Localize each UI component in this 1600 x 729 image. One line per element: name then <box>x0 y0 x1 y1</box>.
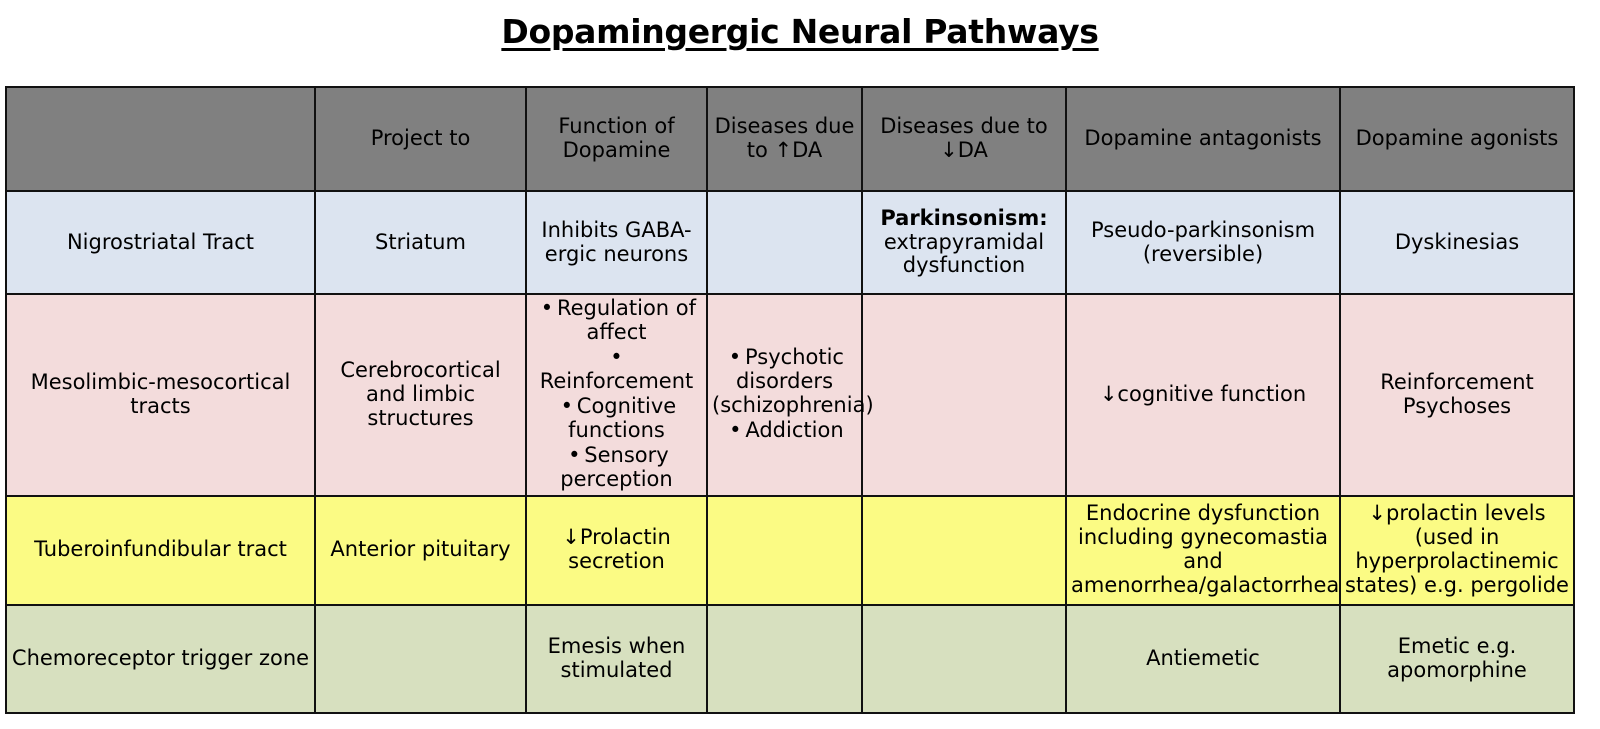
cell-nigrostriatal-function: Inhibits GABA-ergic neurons <box>526 191 707 294</box>
cell-mesolimbic-project-to: Cerebrocortical and limbic structures <box>315 294 526 496</box>
header-cell-dopamine-antagonists: Dopamine antagonists <box>1066 87 1340 191</box>
list-item-label: Addiction <box>745 418 843 442</box>
list-item: •Reinforcement <box>531 346 702 394</box>
cell-tuberoinfundibular-increased-da <box>707 496 862 605</box>
table-row: Tuberoinfundibular tract Anterior pituit… <box>6 496 1574 605</box>
header-cell-diseases-increased-da: Diseases due to ↑DA <box>707 87 862 191</box>
cell-tuberoinfundibular-antagonists: Endocrine dysfunction including gynecoma… <box>1066 496 1340 605</box>
page-title: Dopamingergic Neural Pathways <box>501 12 1098 51</box>
cell-mesolimbic-increased-da: •Psychotic disorders (schizophrenia) •Ad… <box>707 294 862 496</box>
table-row: Nigrostriatal Tract Striatum Inhibits GA… <box>6 191 1574 294</box>
parkinsonism-label: Parkinsonism: <box>880 206 1047 230</box>
cell-chemoreceptor-decreased-da <box>862 605 1066 713</box>
bullet-dot-icon: • <box>725 419 745 443</box>
cell-tuberoinfundibular-project-to: Anterior pituitary <box>315 496 526 605</box>
list-item: •Regulation of affect <box>531 297 702 345</box>
function-bullet-list: •Regulation of affect •Reinforcement •Co… <box>531 297 702 492</box>
cell-chemoreceptor-antagonists: Antiemetic <box>1066 605 1340 713</box>
header-cell-function-of-dopamine: Function of Dopamine <box>526 87 707 191</box>
table-row: Chemoreceptor trigger zone Emesis when s… <box>6 605 1574 713</box>
page-root: Dopamingergic Neural Pathways Project to… <box>0 0 1600 729</box>
row-label-mesolimbic: Mesolimbic-mesocortical tracts <box>6 294 315 496</box>
increased-da-bullet-list: •Psychotic disorders (schizophrenia) •Ad… <box>712 346 857 443</box>
cell-tuberoinfundibular-function: ↓Prolactin secretion <box>526 496 707 605</box>
cell-tuberoinfundibular-decreased-da <box>862 496 1066 605</box>
header-cell-dopamine-agonists: Dopamine agonists <box>1340 87 1574 191</box>
list-item-label: Regulation of affect <box>557 296 696 344</box>
cell-mesolimbic-function: •Regulation of affect •Reinforcement •Co… <box>526 294 707 496</box>
cell-chemoreceptor-function: Emesis when stimulated <box>526 605 707 713</box>
cell-mesolimbic-decreased-da <box>862 294 1066 496</box>
dopaminergic-pathways-table: Project to Function of Dopamine Diseases… <box>5 86 1575 714</box>
cell-chemoreceptor-agonists: Emetic e.g. apomorphine <box>1340 605 1574 713</box>
cell-chemoreceptor-increased-da <box>707 605 862 713</box>
bullet-dot-icon: • <box>557 395 577 419</box>
cell-mesolimbic-agonists: Reinforcement Psychoses <box>1340 294 1574 496</box>
table-body: Nigrostriatal Tract Striatum Inhibits GA… <box>6 191 1574 713</box>
list-item: •Psychotic disorders (schizophrenia) <box>712 346 857 418</box>
cell-nigrostriatal-increased-da <box>707 191 862 294</box>
row-label-nigrostriatal: Nigrostriatal Tract <box>6 191 315 294</box>
bullet-dot-icon: • <box>537 297 557 321</box>
list-item: •Addiction <box>712 419 857 443</box>
header-cell-corner <box>6 87 315 191</box>
list-item-label: Reinforcement <box>540 369 694 393</box>
row-label-tuberoinfundibular: Tuberoinfundibular tract <box>6 496 315 605</box>
bullet-dot-icon: • <box>607 346 627 370</box>
cell-chemoreceptor-project-to <box>315 605 526 713</box>
bullet-dot-icon: • <box>725 346 745 370</box>
cell-nigrostriatal-agonists: Dyskinesias <box>1340 191 1574 294</box>
header-cell-project-to: Project to <box>315 87 526 191</box>
header-row: Project to Function of Dopamine Diseases… <box>6 87 1574 191</box>
parkinsonism-description: extrapyramidal dysfunction <box>884 230 1044 278</box>
cell-tuberoinfundibular-agonists: ↓prolactin levels (used in hyperprolacti… <box>1340 496 1574 605</box>
row-label-chemoreceptor: Chemoreceptor trigger zone <box>6 605 315 713</box>
list-item-label: Cognitive functions <box>568 394 676 442</box>
table-row: Mesolimbic-mesocortical tracts Cerebroco… <box>6 294 1574 496</box>
bullet-dot-icon: • <box>564 444 584 468</box>
cell-mesolimbic-antagonists: ↓cognitive function <box>1066 294 1340 496</box>
table-header: Project to Function of Dopamine Diseases… <box>6 87 1574 191</box>
cell-nigrostriatal-decreased-da: Parkinsonism: extrapyramidal dysfunction <box>862 191 1066 294</box>
header-cell-diseases-decreased-da: Diseases due to ↓DA <box>862 87 1066 191</box>
list-item: •Sensory perception <box>531 444 702 492</box>
cell-nigrostriatal-project-to: Striatum <box>315 191 526 294</box>
title-container: Dopamingergic Neural Pathways <box>0 0 1600 62</box>
list-item: •Cognitive functions <box>531 395 702 443</box>
cell-nigrostriatal-antagonists: Pseudo-parkinsonism (reversible) <box>1066 191 1340 294</box>
